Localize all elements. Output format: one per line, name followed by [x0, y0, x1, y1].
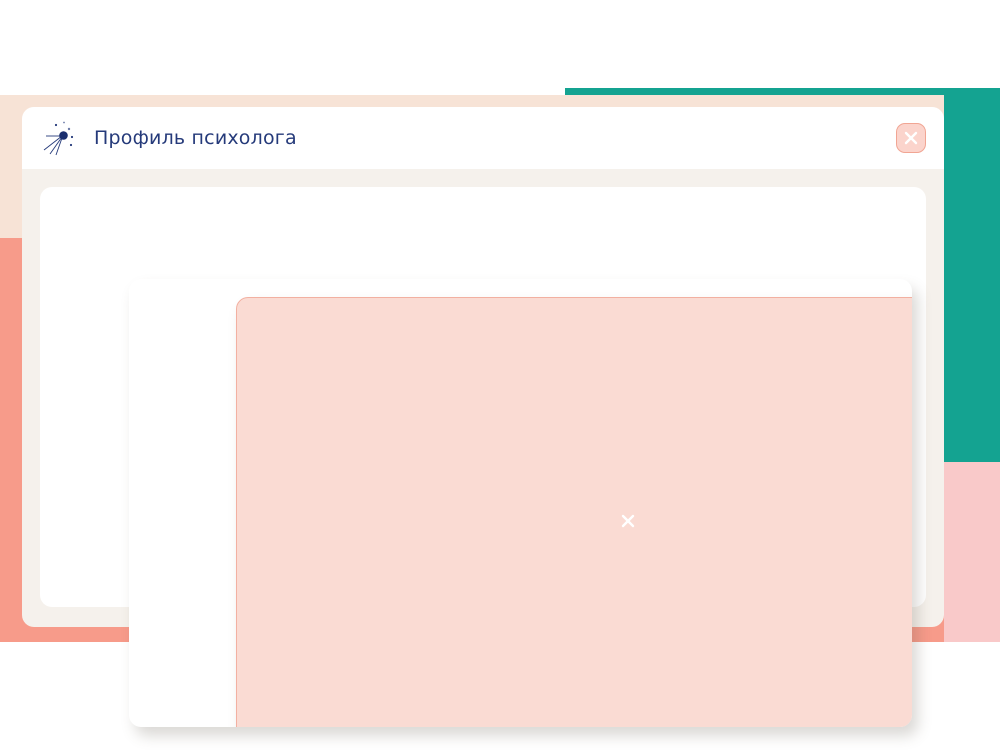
background-strip-salmon-left [0, 238, 22, 642]
result-processing-modal: Обработка результата Диагностика агресси… [129, 279, 912, 727]
app-header: Профиль психолога [22, 107, 944, 169]
close-icon [902, 129, 920, 147]
background-band-pink [944, 462, 1000, 642]
app-window: Профиль психолога ить Обработка результа… [22, 107, 944, 627]
modal-close-button[interactable] [236, 297, 912, 727]
window-close-button[interactable] [896, 123, 926, 153]
app-title: Профиль психолога [94, 127, 297, 149]
comet-star-icon [42, 119, 84, 157]
brand: Профиль психолога [42, 119, 297, 157]
close-icon [619, 512, 637, 530]
screen: Профиль психолога ить Обработка результа… [0, 0, 1000, 750]
